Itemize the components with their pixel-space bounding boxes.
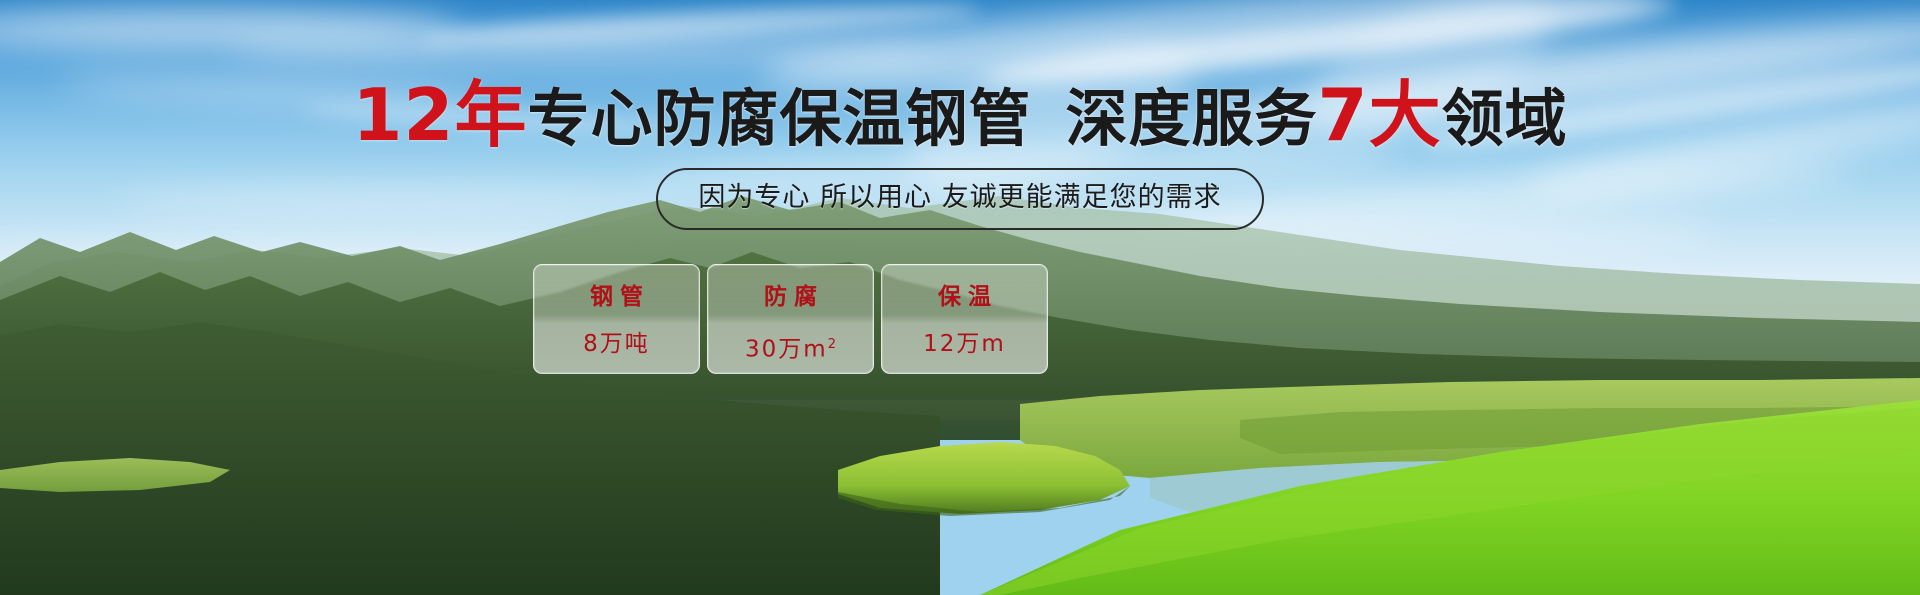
stat-card-group: 钢管 8万吨 防腐 30万m2 保温 12万m (533, 264, 1048, 374)
stat-card-value: 30万m2 (745, 331, 836, 364)
hero-banner: 12年专心防腐保温钢管深度服务7大领域 因为专心 所以用心 友诚更能满足您的需求… (0, 0, 1920, 595)
stat-card-label: 保温 (931, 284, 998, 310)
headline-service: 深度服务 (1066, 82, 1318, 155)
stat-card-steel-pipe[interactable]: 钢管 8万吨 (533, 264, 700, 374)
subtitle-pill: 因为专心 所以用心 友诚更能满足您的需求 (656, 168, 1263, 230)
stat-card-insulation[interactable]: 保温 12万m (881, 264, 1048, 374)
stat-value-text: 8万吨 (583, 331, 650, 357)
stat-value-text: 30万m (745, 337, 828, 363)
stat-card-value: 12万m (923, 331, 1006, 358)
headline-main: 专心防腐保温钢管 (528, 82, 1032, 155)
stat-card-label: 钢管 (583, 284, 650, 310)
headline-fields-count: 7大 (1318, 73, 1442, 157)
headline-fields: 领域 (1442, 82, 1568, 155)
stat-card-label: 防腐 (757, 284, 824, 310)
stat-value-superscript: 2 (828, 337, 836, 352)
subtitle-wrapper: 因为专心 所以用心 友诚更能满足您的需求 (0, 168, 1920, 230)
headline: 12年专心防腐保温钢管深度服务7大领域 (0, 78, 1920, 156)
stat-card-value: 8万吨 (583, 331, 650, 358)
stat-card-anticorrosion[interactable]: 防腐 30万m2 (707, 264, 874, 374)
headline-years: 12年 (352, 73, 527, 157)
stat-value-text: 12万m (923, 331, 1006, 357)
